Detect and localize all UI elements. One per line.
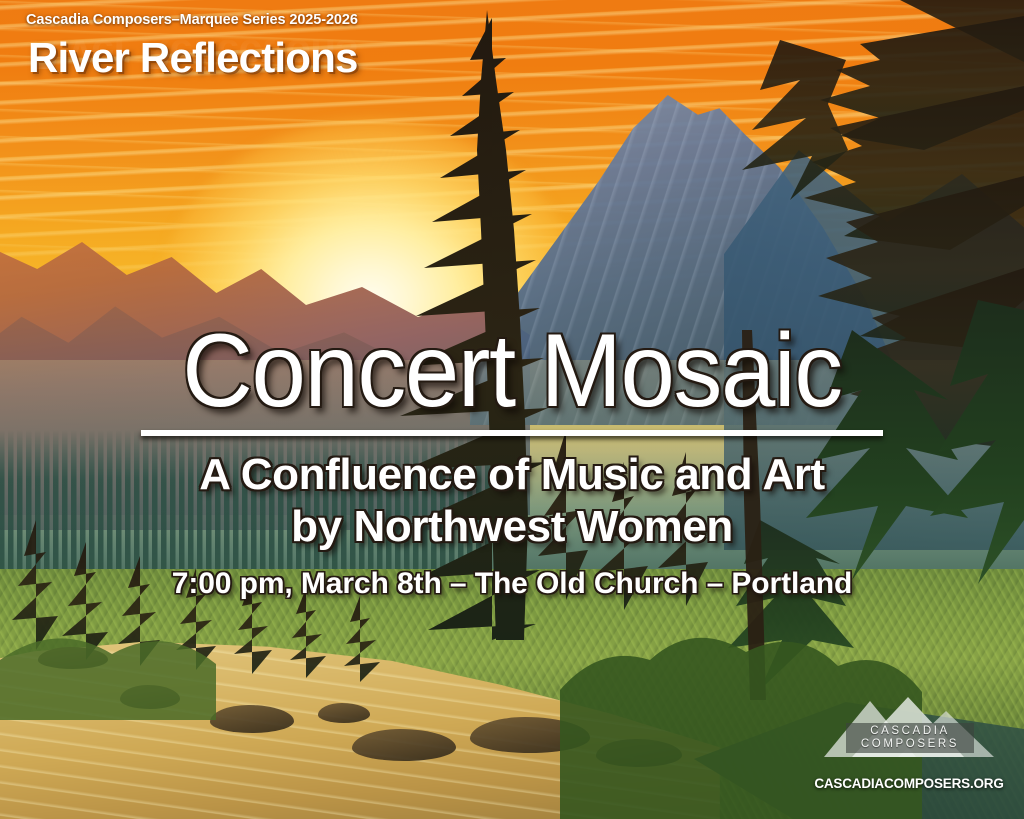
cascadia-composers-logo[interactable]: CASCADIA COMPOSERS CASCADIACOMPOSERS.ORG [810, 695, 1008, 791]
foreground-shrubs-left [0, 638, 216, 720]
logo-name-band: CASCADIA COMPOSERS [846, 723, 974, 753]
subtitle-line-2: by Northwest Women [0, 502, 1024, 552]
logo-name-line-2: COMPOSERS [861, 738, 959, 751]
logo-website-url[interactable]: CASCADIACOMPOSERS.ORG [810, 776, 1008, 791]
event-details: 7:00 pm, March 8th – The Old Church – Po… [0, 567, 1024, 601]
logo-name-line-1: CASCADIA [870, 725, 950, 738]
headline-block: Concert Mosaic A Confluence of Music and… [0, 318, 1024, 601]
concert-title: Concert Mosaic [31, 318, 994, 424]
title-divider-rule [141, 430, 883, 436]
subtitle-line-1: A Confluence of Music and Art [0, 450, 1024, 500]
series-kicker: Cascadia Composers–Marquee Series 2025-2… [26, 12, 358, 28]
concert-poster: Cascadia Composers–Marquee Series 2025-2… [0, 0, 1024, 819]
series-title: River Reflections [28, 34, 358, 82]
